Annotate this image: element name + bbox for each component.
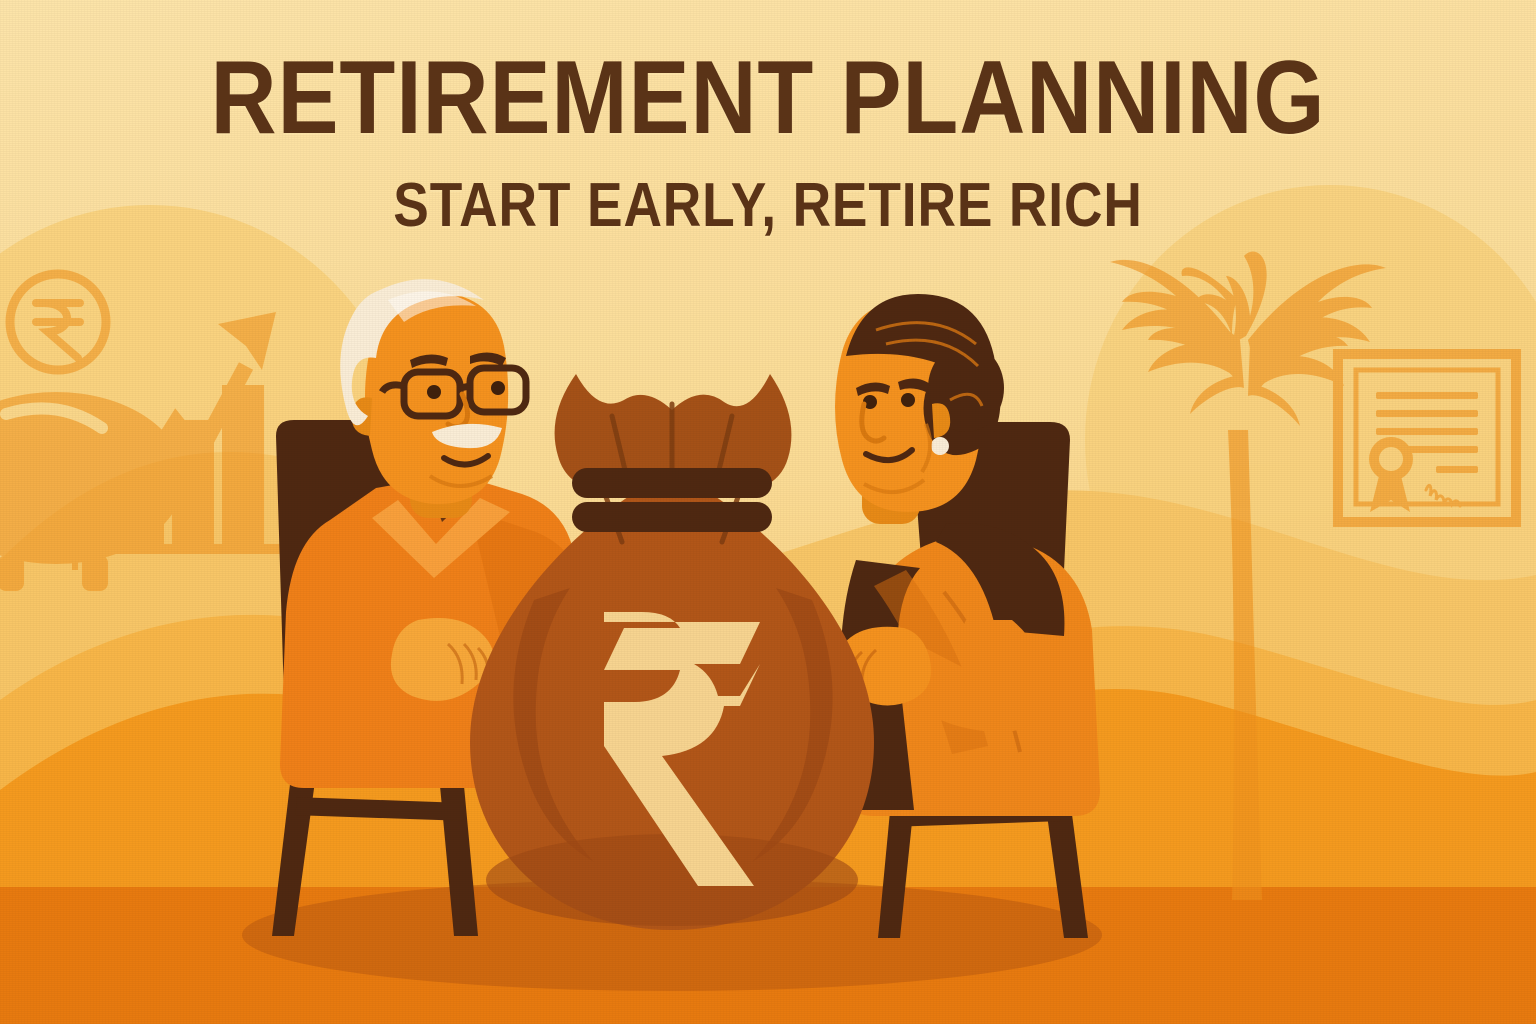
warm-overlay xyxy=(0,0,1536,1024)
poster-illustration xyxy=(0,0,1536,1024)
poster-canvas: RETIREMENT PLANNING START EARLY, RETIRE … xyxy=(0,0,1536,1024)
